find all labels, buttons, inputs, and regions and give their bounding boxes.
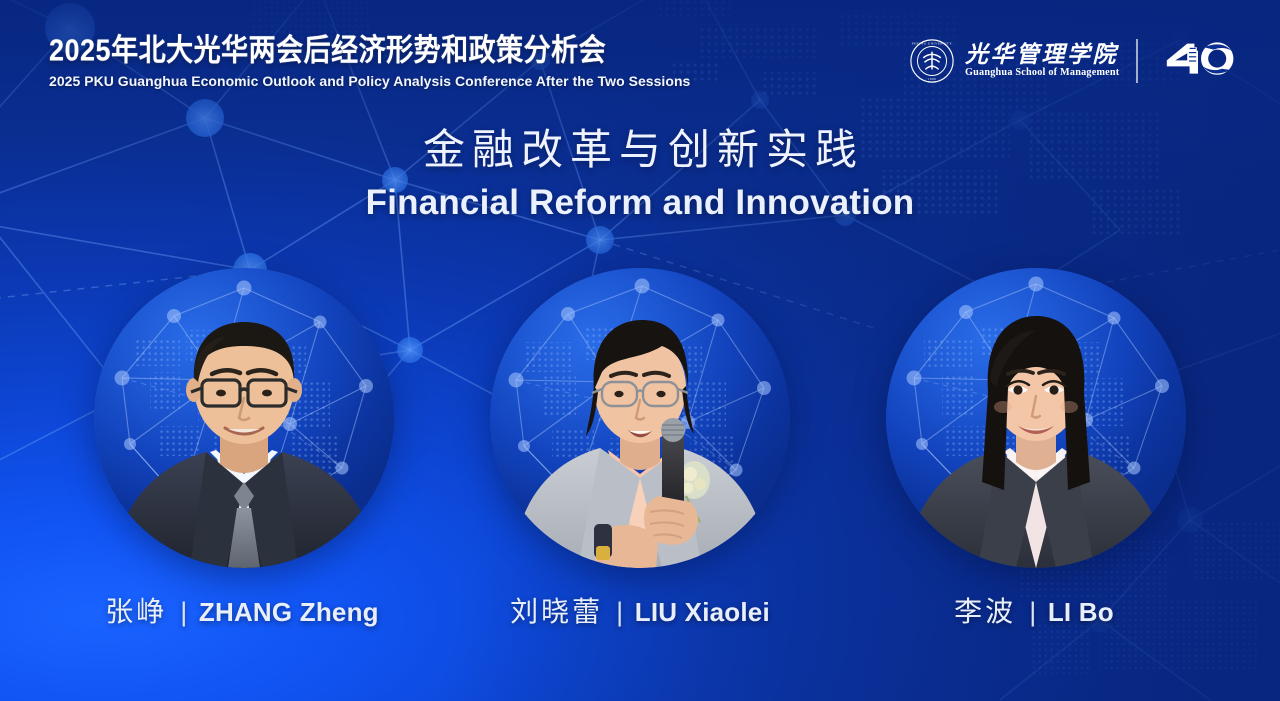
speaker-name: 张峥 | ZHANG Zheng <box>105 590 379 630</box>
speaker-card: 李波 | LI Bo <box>886 268 1186 630</box>
slide-canvas: 2025年北大光华两会后经济形势和政策分析会 2025 PKU Guanghua… <box>0 0 1280 701</box>
speaker-name-cn: 刘晓蕾 <box>510 590 603 630</box>
conference-title-en: 2025 PKU Guanghua Economic Outlook and P… <box>49 74 690 90</box>
speaker-name-separator: | <box>1016 597 1048 628</box>
conference-title-block: 2025年北大光华两会后经济形势和政策分析会 2025 PKU Guanghua… <box>49 33 700 90</box>
school-name-cn: 光华管理学院 <box>965 43 1119 66</box>
session-title-block: 金融改革与创新实践 Financial Reform and Innovatio… <box>0 125 1280 224</box>
speaker-photo <box>490 268 790 568</box>
speaker-photo <box>886 268 1186 568</box>
speaker-name-separator: | <box>167 597 199 628</box>
speaker-name-en: LIU Xiaolei <box>635 597 770 628</box>
anniversary-40-icon <box>1162 41 1234 81</box>
session-title-cn: 金融改革与创新实践 <box>0 125 1280 178</box>
portrait-li-bo <box>886 268 1186 568</box>
speaker-name-cn: 张峥 <box>105 590 167 630</box>
portrait-zhang-zheng <box>94 268 394 568</box>
slide-header: 2025年北大光华两会后经济形势和政策分析会 2025 PKU Guanghua… <box>0 0 1280 110</box>
speaker-name-en: LI Bo <box>1048 597 1114 628</box>
speaker-name: 李波 | LI Bo <box>954 590 1114 630</box>
speaker-name-cn: 李波 <box>954 590 1016 630</box>
guanghua-logo-lockup: PEKING UNIVERSITY 1898 光华管理学院 Guanghua S… <box>910 33 1234 89</box>
svg-text:1898: 1898 <box>928 77 936 81</box>
speaker-row: 张峥 | ZHANG Zheng <box>0 268 1280 648</box>
speaker-photo <box>94 268 394 568</box>
logo-divider <box>1136 39 1138 83</box>
school-name-en: Guanghua School of Management <box>965 68 1119 78</box>
school-name-block: 光华管理学院 Guanghua School of Management <box>965 43 1119 78</box>
speaker-name: 刘晓蕾 | LIU Xiaolei <box>510 590 770 630</box>
speaker-card: 张峥 | ZHANG Zheng <box>94 268 394 630</box>
conference-title-cn: 2025年北大光华两会后经济形势和政策分析会 <box>49 33 700 67</box>
peking-university-seal-icon: PEKING UNIVERSITY 1898 <box>910 39 954 83</box>
speaker-name-en: ZHANG Zheng <box>199 597 379 628</box>
svg-text:PEKING UNIVERSITY: PEKING UNIVERSITY <box>912 41 953 45</box>
speaker-card: 刘晓蕾 | LIU Xiaolei <box>490 268 790 630</box>
session-title-en: Financial Reform and Innovation <box>0 182 1280 224</box>
speaker-name-separator: | <box>603 597 635 628</box>
portrait-liu-xiaolei <box>490 268 790 568</box>
